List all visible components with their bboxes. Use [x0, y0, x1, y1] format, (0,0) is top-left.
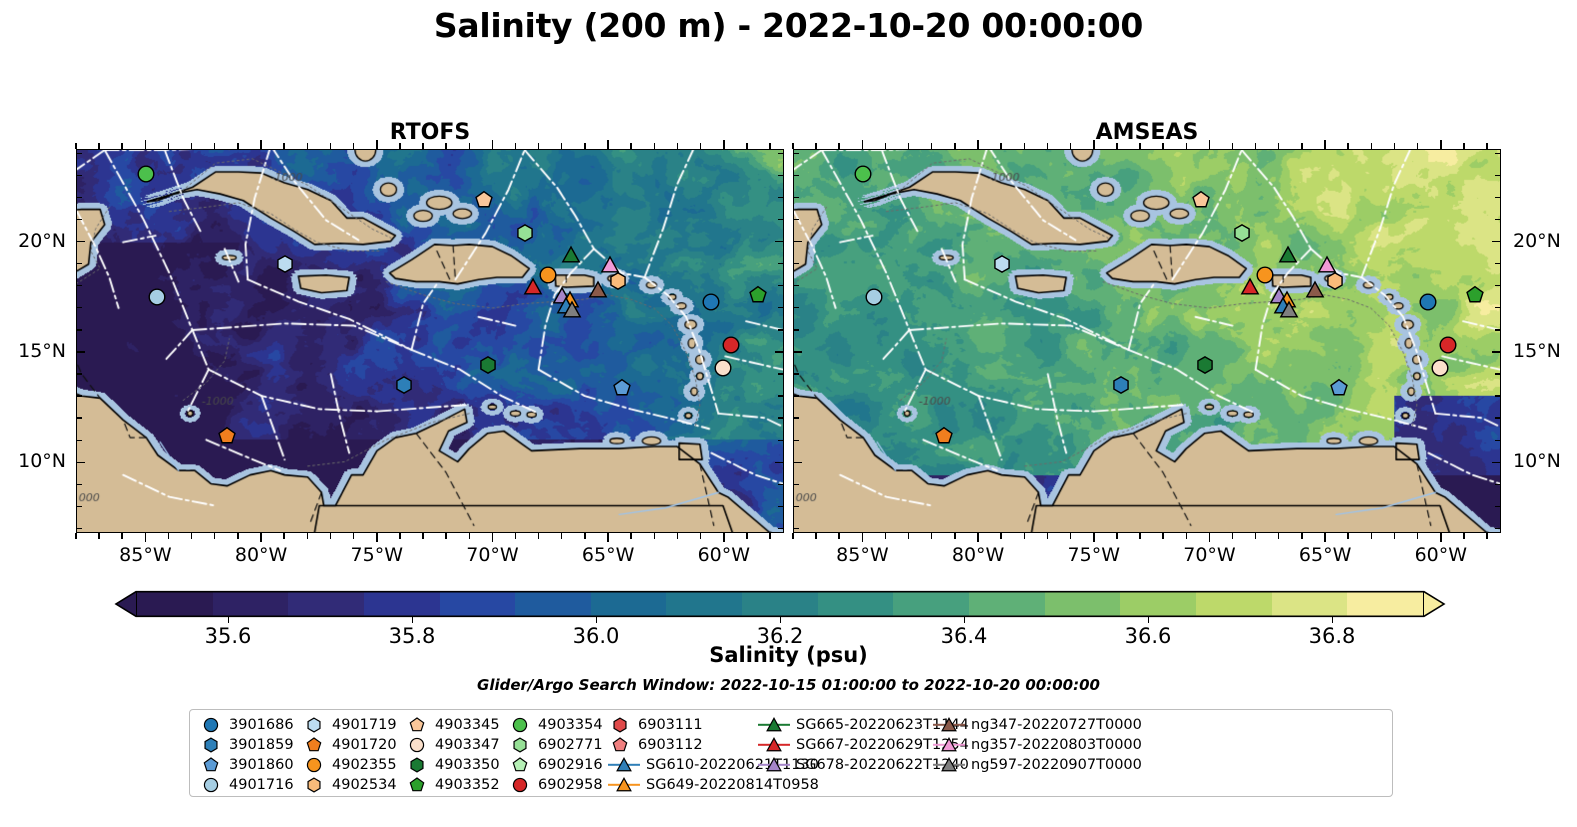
map-marker-6902958[interactable]: [1438, 336, 1457, 355]
map-marker-ng597-20220907T0000[interactable]: [1280, 301, 1299, 320]
x-tick: [1347, 533, 1348, 539]
x-tick: [1162, 143, 1163, 149]
x-tick-label: 65°W: [1291, 544, 1359, 566]
pentagon-marker-icon: [203, 757, 219, 773]
x-tick-label: 65°W: [574, 544, 642, 566]
legend-line-marker: [757, 716, 791, 734]
legend-label: 3901859: [224, 737, 294, 753]
hexagon-marker-icon: [612, 717, 628, 733]
x-tick: [237, 533, 238, 539]
y-tick: [778, 484, 784, 485]
x-tick: [445, 533, 446, 539]
x-tick: [469, 143, 470, 149]
y-tick-label: 15°N: [1513, 340, 1577, 362]
legend-marker: [301, 776, 327, 794]
legend-label: 6903111: [633, 717, 703, 733]
colorbar-tick: [1148, 617, 1149, 623]
x-tick: [1301, 533, 1302, 539]
y-tick: [1495, 307, 1501, 308]
pentagon-marker-icon: [409, 777, 425, 793]
map-marker-4903345[interactable]: [1192, 190, 1211, 209]
legend-label: 4903352: [430, 777, 500, 793]
y-tick: [76, 395, 82, 396]
y-tick: [793, 484, 799, 485]
legend-marker: [301, 756, 327, 774]
legend-label: ng347-20220727T0000: [966, 717, 1142, 733]
map-marker-6902771[interactable]: [515, 223, 534, 242]
legend: 3901686390185939018604901716490171949017…: [189, 709, 1393, 797]
page-title: Salinity (200 m) - 2022-10-20 00:00:00: [0, 6, 1577, 45]
x-tick: [1232, 533, 1233, 539]
map-marker-ng347-20220727T0000[interactable]: [1305, 281, 1324, 300]
y-tick: [76, 462, 85, 464]
circle-marker-icon: [409, 737, 425, 753]
circle-marker-icon: [203, 777, 219, 793]
legend-entry[interactable]: SG665-20220623T1144: [757, 715, 932, 735]
legend-entry[interactable]: ng347-20220727T0000: [932, 715, 1107, 735]
map-marker-4901720[interactable]: [218, 426, 237, 445]
x-tick: [515, 143, 516, 149]
y-tick: [793, 506, 799, 507]
x-tick: [677, 533, 678, 539]
colorbar-tick: [228, 617, 229, 623]
x-tick: [700, 533, 701, 539]
x-tick: [330, 143, 331, 149]
y-tick: [1495, 417, 1501, 418]
legend-marker: [404, 756, 430, 774]
x-tick: [1278, 143, 1279, 149]
y-tick: [793, 373, 799, 374]
y-tick: [793, 528, 799, 529]
x-tick: [630, 143, 631, 149]
y-tick: [1495, 395, 1501, 396]
x-tick: [1139, 533, 1140, 539]
y-tick: [76, 440, 82, 441]
x-tick: [1255, 143, 1256, 149]
x-tick: [399, 533, 400, 539]
x-tick: [538, 533, 539, 539]
y-tick: [793, 197, 799, 198]
x-tick: [838, 533, 839, 539]
x-tick: [168, 533, 169, 539]
legend-marker: [507, 736, 533, 754]
y-tick: [793, 285, 799, 286]
x-tick: [1209, 140, 1211, 149]
colorbar-tick: [596, 617, 597, 623]
legend-label: 3901860: [224, 757, 294, 773]
x-tick: [260, 140, 262, 149]
y-tick: [76, 329, 82, 330]
hexagon-marker-icon: [203, 737, 219, 753]
legend-column: 4903345490334749033504903352: [404, 715, 507, 795]
y-tick: [1495, 153, 1501, 154]
x-tick: [769, 533, 770, 539]
x-tick: [1093, 140, 1095, 149]
x-tick: [1116, 143, 1117, 149]
colorbar-outline: [115, 591, 1445, 617]
x-tick: [584, 143, 585, 149]
x-tick: [1070, 143, 1071, 149]
legend-label: 4902355: [327, 757, 397, 773]
colorbar-label: Salinity (psu): [0, 643, 1577, 667]
legend-marker: [301, 736, 327, 754]
x-tick: [1186, 143, 1187, 149]
y-tick: [1495, 329, 1501, 330]
x-tick: [1255, 533, 1256, 539]
y-tick: [778, 417, 784, 418]
x-tick: [1394, 533, 1395, 539]
legend-entry[interactable]: SG610-20220621T1130: [607, 755, 757, 775]
y-tick: [778, 285, 784, 286]
y-tick: [775, 351, 784, 353]
x-tick: [654, 143, 655, 149]
x-tick: [1232, 143, 1233, 149]
x-tick: [538, 143, 539, 149]
legend-entry[interactable]: SG649-20220814T0958: [607, 775, 757, 795]
map-marker-SG665-20220623T1144[interactable]: [1278, 245, 1297, 264]
y-tick: [76, 263, 82, 264]
x-tick: [98, 143, 99, 149]
map-marker-ng347-20220727T0000[interactable]: [588, 281, 607, 300]
legend-label: 4901720: [327, 737, 397, 753]
map-marker-4903352[interactable]: [749, 285, 768, 304]
map-marker-SG667-20220629T1254[interactable]: [523, 277, 542, 296]
marker-layer-amseas: [794, 150, 1500, 532]
map-marker-4903345[interactable]: [475, 190, 494, 209]
map-marker-4903354[interactable]: [137, 165, 156, 184]
x-tick: [283, 533, 284, 539]
legend-entry[interactable]: SG667-20220629T1254: [757, 735, 932, 755]
legend-entry[interactable]: 3901686: [198, 715, 301, 735]
legend-entry[interactable]: 6902916: [507, 755, 607, 775]
y-tick: [76, 506, 82, 507]
x-tick: [1347, 143, 1348, 149]
x-tick: [746, 533, 747, 539]
y-tick: [1495, 506, 1501, 507]
x-tick-label: 85°W: [111, 544, 179, 566]
legend-column: 69031116903112SG610-20220621T1130SG649-2…: [607, 715, 757, 795]
triangle-marker-icon: [941, 737, 957, 753]
legend-entry[interactable]: 4902534: [301, 775, 404, 795]
x-tick: [1417, 533, 1418, 539]
map-marker-4902534[interactable]: [1326, 272, 1345, 291]
x-tick: [977, 533, 979, 542]
y-tick: [1492, 462, 1501, 464]
x-tick: [769, 143, 770, 149]
y-tick: [793, 417, 799, 418]
legend-line-marker: [607, 776, 641, 794]
x-tick-label: 60°W: [1407, 544, 1475, 566]
y-tick: [76, 307, 82, 308]
x-tick: [1116, 533, 1117, 539]
x-tick: [1139, 143, 1140, 149]
x-tick: [885, 143, 886, 149]
x-tick: [1301, 143, 1302, 149]
x-tick: [862, 140, 864, 149]
y-tick: [1495, 373, 1501, 374]
x-tick: [908, 533, 909, 539]
legend-label: 4903347: [430, 737, 500, 753]
x-tick: [1440, 140, 1442, 149]
x-tick: [469, 533, 470, 539]
x-tick: [1324, 533, 1326, 542]
x-tick: [931, 143, 932, 149]
y-tick: [76, 373, 82, 374]
legend-label: 3901686: [224, 717, 294, 733]
x-tick: [607, 533, 609, 542]
legend-entry[interactable]: 6903112: [607, 735, 757, 755]
x-tick: [561, 143, 562, 149]
y-tick: [793, 307, 799, 308]
x-tick: [492, 140, 494, 149]
legend-label: 6903112: [633, 737, 703, 753]
triangle-marker-icon: [766, 717, 782, 733]
map-marker-4901716[interactable]: [147, 287, 166, 306]
x-tick: [1024, 533, 1025, 539]
y-tick: [793, 462, 802, 464]
x-tick: [1070, 533, 1071, 539]
legend-marker: [198, 756, 224, 774]
y-tick: [1495, 263, 1501, 264]
x-tick: [1371, 533, 1372, 539]
x-tick-label: 70°W: [458, 544, 526, 566]
colorbar-tick: [964, 617, 965, 623]
map-marker-6902771[interactable]: [1232, 223, 1251, 242]
legend-line-marker: [932, 736, 966, 754]
pentagon-marker-icon: [409, 717, 425, 733]
map-marker-3901860[interactable]: [612, 379, 631, 398]
x-tick: [121, 143, 122, 149]
y-tick: [778, 373, 784, 374]
x-tick: [792, 143, 793, 149]
x-tick: [191, 533, 192, 539]
map-marker-4903347[interactable]: [713, 359, 732, 378]
y-tick: [793, 329, 799, 330]
legend-column: 4901719490172049023554902534: [301, 715, 404, 795]
x-tick: [1371, 143, 1372, 149]
x-tick: [145, 140, 147, 149]
x-tick: [422, 533, 423, 539]
legend-label: 6902916: [533, 757, 603, 773]
x-tick: [1047, 143, 1048, 149]
x-tick: [1186, 533, 1187, 539]
legend-column: 3901686390185939018604901716: [198, 715, 301, 795]
y-tick: [1492, 351, 1501, 353]
x-tick: [353, 143, 354, 149]
legend-entry[interactable]: 4903345: [404, 715, 507, 735]
x-tick: [75, 533, 76, 539]
x-tick: [1417, 143, 1418, 149]
x-tick: [1324, 140, 1326, 149]
y-tick: [778, 263, 784, 264]
pentagon-marker-icon: [512, 757, 528, 773]
y-tick: [778, 506, 784, 507]
x-tick: [1278, 533, 1279, 539]
map-marker-4903347[interactable]: [1430, 359, 1449, 378]
x-tick: [98, 533, 99, 539]
legend-label: ng357-20220803T0000: [966, 737, 1142, 753]
x-tick: [75, 143, 76, 149]
panel-title-rtofs: RTOFS: [76, 120, 784, 145]
y-tick: [778, 395, 784, 396]
legend-marker: [607, 716, 633, 734]
panel-title-amseas: AMSEAS: [793, 120, 1501, 145]
map-marker-3901859[interactable]: [395, 376, 414, 395]
legend-label: 6902771: [533, 737, 603, 753]
x-tick-label: 75°W: [1060, 544, 1128, 566]
y-tick: [1495, 440, 1501, 441]
y-tick: [1495, 528, 1501, 529]
legend-marker: [507, 776, 533, 794]
y-tick: [778, 219, 784, 220]
x-tick: [399, 143, 400, 149]
legend-label: 4901719: [327, 717, 397, 733]
hexagon-marker-icon: [512, 737, 528, 753]
legend-marker: [198, 716, 224, 734]
y-tick: [76, 241, 85, 243]
map-marker-4903350[interactable]: [478, 356, 497, 375]
legend-label: 4901716: [224, 777, 294, 793]
x-tick: [214, 533, 215, 539]
triangle-marker-icon: [766, 757, 782, 773]
legend-column: 4903354690277169029166902958: [507, 715, 607, 795]
y-tick: [793, 219, 799, 220]
legend-entry[interactable]: 4903347: [404, 735, 507, 755]
x-tick: [862, 533, 864, 542]
x-tick: [307, 533, 308, 539]
marker-layer-rtofs: [77, 150, 783, 532]
x-tick: [838, 143, 839, 149]
panel-amseas: AMSEAS 85°W80°W75°W70°W65°W60°W10°N15°N2…: [793, 120, 1501, 540]
y-tick: [778, 528, 784, 529]
legend-marker: [404, 736, 430, 754]
circle-marker-icon: [512, 777, 528, 793]
x-tick: [746, 143, 747, 149]
legend-grid: 3901686390185939018604901716490171949017…: [198, 715, 1107, 795]
legend-marker: [198, 776, 224, 794]
legend-entry[interactable]: 3901860: [198, 755, 301, 775]
map-marker-3901686[interactable]: [701, 293, 720, 312]
x-tick: [121, 533, 122, 539]
x-tick: [1486, 533, 1487, 539]
map-marker-3901859[interactable]: [1112, 376, 1131, 395]
y-tick: [1495, 219, 1501, 220]
y-tick: [793, 395, 799, 396]
y-tick: [76, 285, 82, 286]
y-tick: [76, 484, 82, 485]
colorbar: 35.635.836.036.236.436.636.8: [115, 591, 1445, 617]
legend-entry[interactable]: 4902355: [301, 755, 404, 775]
map-marker-4901719[interactable]: [276, 254, 295, 273]
x-tick: [815, 533, 816, 539]
x-tick: [792, 533, 793, 539]
legend-entry[interactable]: 4901716: [198, 775, 301, 795]
y-tick-label: 10°N: [1513, 450, 1577, 472]
legend-entry[interactable]: SG678-20220622T1240: [757, 755, 932, 775]
legend-marker: [607, 736, 633, 754]
x-tick: [1463, 533, 1464, 539]
map-rtofs[interactable]: [76, 149, 784, 533]
x-tick: [931, 533, 932, 539]
legend-line-marker: [757, 736, 791, 754]
x-tick: [168, 143, 169, 149]
legend-entry[interactable]: 4903354: [507, 715, 607, 735]
map-amseas[interactable]: [793, 149, 1501, 533]
x-tick-label: 80°W: [944, 544, 1012, 566]
map-marker-3901860[interactable]: [1329, 379, 1348, 398]
legend-label: 4902534: [327, 777, 397, 793]
y-tick: [778, 440, 784, 441]
x-tick: [1394, 143, 1395, 149]
x-tick: [492, 533, 494, 542]
map-marker-4901719[interactable]: [993, 254, 1012, 273]
legend-entry[interactable]: 3901859: [198, 735, 301, 755]
y-tick: [775, 241, 784, 243]
x-tick-label: 80°W: [227, 544, 295, 566]
map-marker-3901686[interactable]: [1418, 293, 1437, 312]
map-marker-4903352[interactable]: [1466, 285, 1485, 304]
x-tick: [376, 533, 378, 542]
x-tick: [445, 143, 446, 149]
triangle-marker-icon: [616, 777, 632, 793]
map-marker-ng597-20220907T0000[interactable]: [563, 301, 582, 320]
legend-marker: [507, 716, 533, 734]
legend-entry[interactable]: 4903352: [404, 775, 507, 795]
x-tick: [885, 533, 886, 539]
x-tick: [654, 533, 655, 539]
pentagon-marker-icon: [306, 737, 322, 753]
legend-entry[interactable]: 4903350: [404, 755, 507, 775]
legend-marker: [404, 716, 430, 734]
map-marker-6902958[interactable]: [721, 336, 740, 355]
legend-entry[interactable]: ng357-20220803T0000: [932, 735, 1107, 755]
map-marker-4902534[interactable]: [609, 272, 628, 291]
legend-entry[interactable]: 6902958: [507, 775, 607, 795]
x-tick: [353, 533, 354, 539]
x-tick: [145, 533, 147, 542]
x-tick: [1440, 533, 1442, 542]
x-tick: [330, 533, 331, 539]
legend-line-marker: [757, 756, 791, 774]
circle-marker-icon: [203, 717, 219, 733]
map-marker-4903354[interactable]: [854, 165, 873, 184]
map-marker-4901716[interactable]: [864, 287, 883, 306]
x-tick-label: 75°W: [343, 544, 411, 566]
legend-entry[interactable]: 4901720: [301, 735, 404, 755]
colorbar-tick: [412, 617, 413, 623]
x-tick: [214, 143, 215, 149]
legend-line-marker: [932, 716, 966, 734]
legend-column: SG665-20220623T1144SG667-20220629T1254SG…: [757, 715, 932, 795]
map-marker-4901720[interactable]: [935, 426, 954, 445]
map-marker-SG665-20220623T1144[interactable]: [561, 245, 580, 264]
x-tick: [977, 140, 979, 149]
y-tick: [793, 263, 799, 264]
legend-line-marker: [607, 756, 641, 774]
legend-entry[interactable]: 4901719: [301, 715, 404, 735]
triangle-marker-icon: [941, 757, 957, 773]
y-tick: [778, 197, 784, 198]
legend-entry[interactable]: ng597-20220907T0000: [932, 755, 1107, 775]
x-tick: [283, 143, 284, 149]
y-tick-label: 15°N: [0, 340, 66, 362]
legend-entry[interactable]: 6902771: [507, 735, 607, 755]
circle-marker-icon: [512, 717, 528, 733]
legend-entry[interactable]: 6903111: [607, 715, 757, 735]
map-marker-SG667-20220629T1254[interactable]: [1240, 277, 1259, 296]
legend-label: 4903345: [430, 717, 500, 733]
map-marker-4903350[interactable]: [1195, 356, 1214, 375]
